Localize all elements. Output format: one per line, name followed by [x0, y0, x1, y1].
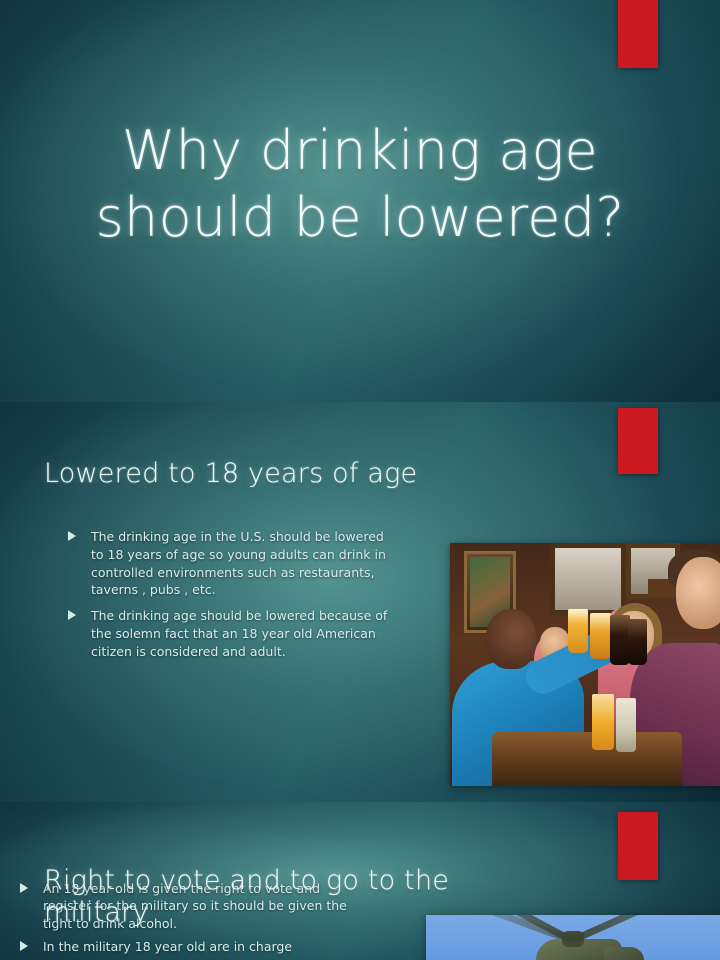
triangle-bullet-icon [68, 531, 76, 541]
list-item: The drinking age should be lowered becau… [66, 607, 396, 660]
beer-bottle [628, 619, 647, 665]
presentation-deck: Why drinking age should be lowered? Lowe… [0, 0, 720, 960]
person-head [486, 609, 536, 669]
person-head [676, 557, 720, 629]
beer-bottle [610, 615, 630, 665]
triangle-bullet-icon [20, 883, 28, 893]
red-accent-bar [618, 0, 658, 68]
red-accent-bar [618, 408, 658, 474]
beer-glass [568, 609, 588, 653]
triangle-bullet-icon [20, 941, 28, 951]
helicopter-nose [604, 947, 644, 960]
beer-glass [616, 698, 636, 752]
pub-window [550, 543, 626, 615]
slide-heading-vote: Right to vote and to go to the military [44, 865, 544, 929]
page-title: Why drinking age should be lowered? [70, 118, 650, 252]
beer-glass [592, 694, 614, 750]
list-item-text: The drinking age in the U.S. should be l… [91, 529, 386, 597]
list-item: The drinking age in the U.S. should be l… [66, 528, 396, 599]
pub-table [492, 732, 682, 786]
photo-pub-toast [450, 543, 720, 786]
beer-glass [590, 613, 611, 659]
list-item-text: In the military 18 year old are in charg… [43, 939, 292, 954]
triangle-bullet-icon [68, 610, 76, 620]
list-item-text: The drinking age should be lowered becau… [91, 608, 387, 659]
list-item: In the military 18 year old are in charg… [18, 938, 366, 955]
bullet-list-lowered: The drinking age in the U.S. should be l… [66, 528, 396, 660]
red-accent-bar [618, 812, 658, 880]
slide-title[interactable]: Why drinking age should be lowered? [0, 0, 720, 402]
slide-heading-lowered: Lowered to 18 years of age [44, 458, 564, 490]
